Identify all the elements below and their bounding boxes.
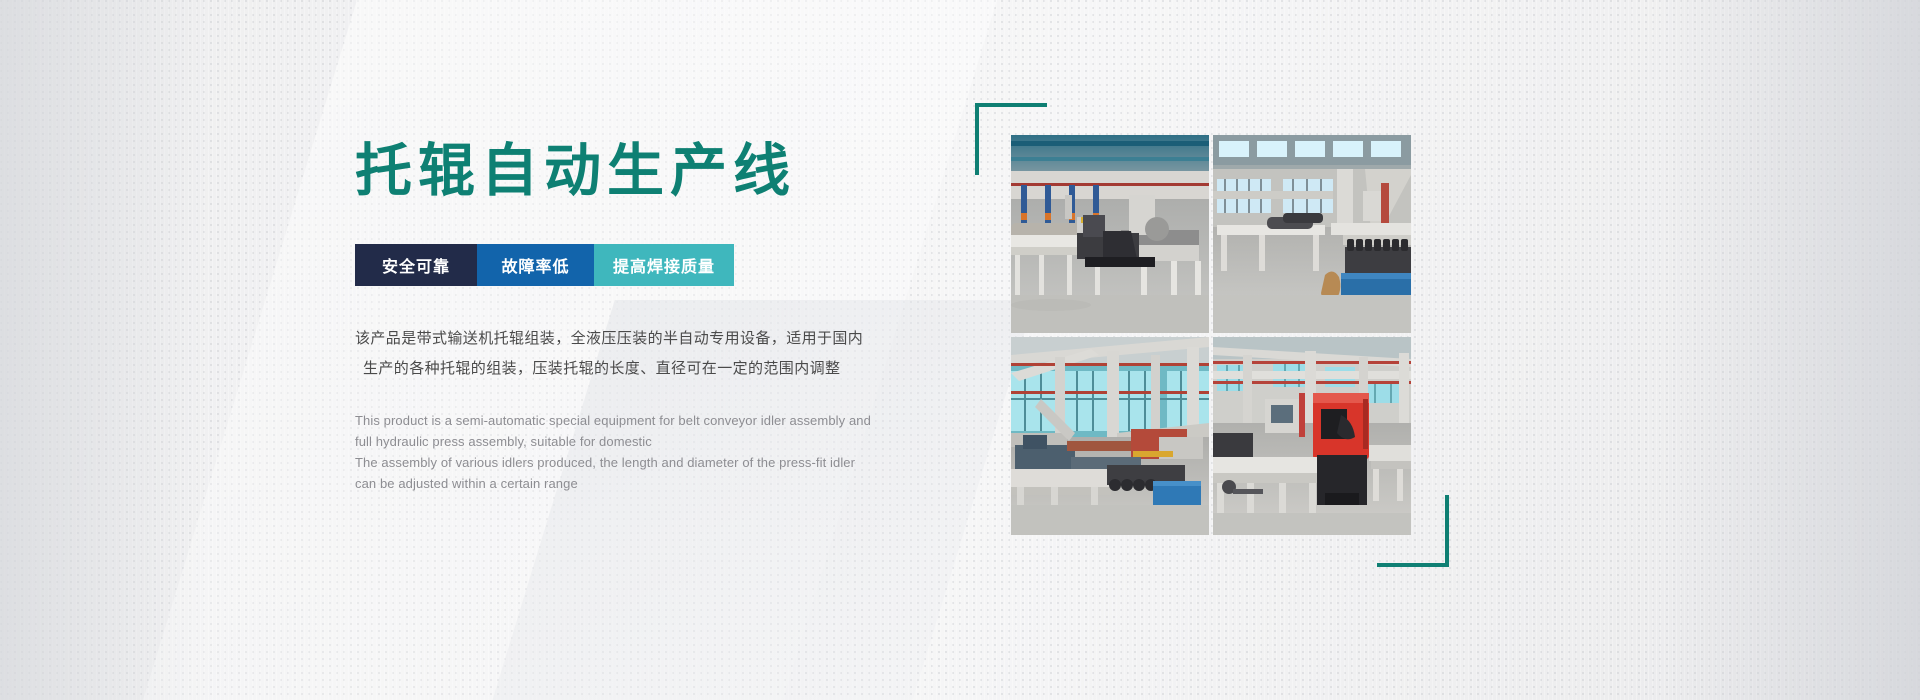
product-gallery xyxy=(1011,135,1411,535)
feature-badge-improved-weld-quality[interactable]: 提高焊接质量 xyxy=(594,244,734,286)
description-english-line-3: The assembly of various idlers produced,… xyxy=(355,452,975,473)
description-english-line-4: can be adjusted within a certain range xyxy=(355,473,975,494)
factory-conveyor-roller-line-photo[interactable] xyxy=(1011,135,1209,333)
product-banner: 托辊自动生产线 安全可靠 故障率低 提高焊接质量 该产品是带式输送机托辊组装，全… xyxy=(0,0,1920,700)
page-title: 托辊自动生产线 xyxy=(355,140,975,204)
factory-workbench-rollers-photo[interactable] xyxy=(1213,135,1411,333)
background-left-shade xyxy=(0,0,210,700)
factory-welding-station-photo[interactable] xyxy=(1011,337,1209,535)
feature-badge-safe-reliable[interactable]: 安全可靠 xyxy=(355,244,477,286)
feature-badge-low-failure-rate[interactable]: 故障率低 xyxy=(477,244,594,286)
feature-badge-row: 安全可靠 故障率低 提高焊接质量 xyxy=(355,244,767,286)
banner-text-column: 托辊自动生产线 安全可靠 故障率低 提高焊接质量 该产品是带式输送机托辊组装，全… xyxy=(355,140,975,494)
background-right-shade xyxy=(1660,0,1920,700)
description-english-line-2: full hydraulic press assembly, suitable … xyxy=(355,431,975,452)
description-english: This product is a semi-automatic special… xyxy=(355,410,975,494)
description-chinese: 该产品是带式输送机托辊组装，全液压压装的半自动专用设备，适用于国内 生产的各种托… xyxy=(355,324,975,384)
description-chinese-line-1: 该产品是带式输送机托辊组装，全液压压装的半自动专用设备，适用于国内 xyxy=(355,324,975,354)
red-press-machine-photo[interactable] xyxy=(1213,337,1411,535)
description-chinese-line-2: 生产的各种托辊的组装，压装托辊的长度、直径可在一定的范围内调整 xyxy=(355,354,975,384)
gallery-grid xyxy=(1011,135,1411,535)
description-english-line-1: This product is a semi-automatic special… xyxy=(355,410,975,431)
